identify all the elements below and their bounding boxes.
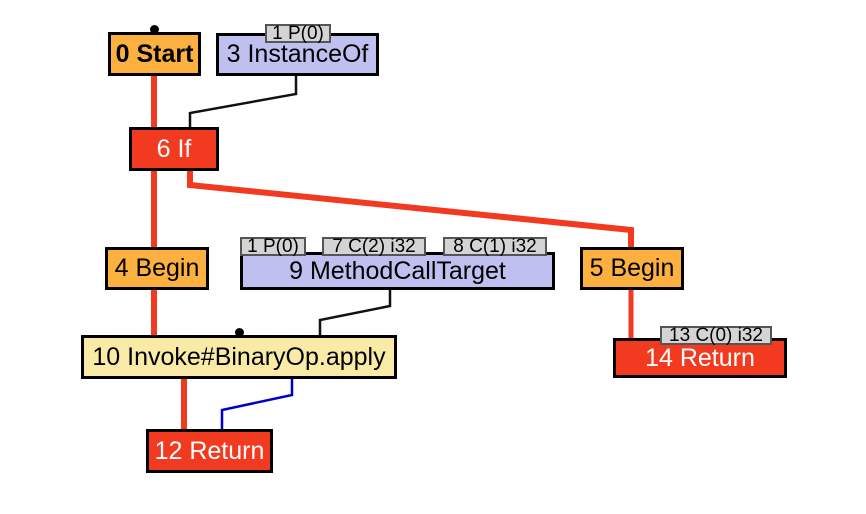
node-begin-5-label: 5 Begin — [590, 256, 675, 281]
node-instanceof-label: 3 InstanceOf — [227, 42, 369, 67]
node-invoke[interactable]: 10 Invoke#BinaryOp.apply — [81, 335, 397, 379]
port-label-mct-8-text: 8 C(1) i32 — [453, 237, 536, 256]
node-start[interactable]: 0 Start — [108, 32, 201, 76]
edge-invoke-value-return12 — [222, 378, 292, 432]
port-label-mct-7-text: 7 C(2) i32 — [332, 237, 415, 256]
node-method-call-target-label: 9 MethodCallTarget — [289, 259, 506, 284]
edge-instanceof-to-if — [190, 76, 296, 129]
port-label-mct-7[interactable]: 7 C(2) i32 — [322, 237, 426, 256]
graph-canvas[interactable]: 0 Start 3 InstanceOf 6 If 4 Begin 9 Meth… — [0, 0, 866, 514]
node-if[interactable]: 6 If — [129, 127, 219, 171]
node-invoke-label: 10 Invoke#BinaryOp.apply — [92, 345, 385, 370]
port-label-mct-8[interactable]: 8 C(1) i32 — [443, 237, 547, 256]
edge-mct-to-invoke — [320, 289, 390, 337]
node-return-14-label: 14 Return — [645, 346, 755, 371]
node-return-12[interactable]: 12 Return — [146, 429, 273, 473]
node-begin-4-label: 4 Begin — [115, 256, 200, 281]
node-begin-4[interactable]: 4 Begin — [105, 247, 209, 290]
port-label-mct-1-text: 1 P(0) — [247, 237, 299, 256]
port-label-instanceof-1[interactable]: 1 P(0) — [265, 24, 331, 43]
port-label-instanceof-1-text: 1 P(0) — [272, 24, 324, 43]
node-method-call-target[interactable]: 9 MethodCallTarget — [240, 252, 555, 290]
node-return-12-label: 12 Return — [155, 439, 265, 464]
node-if-label: 6 If — [157, 137, 192, 162]
anchor-dot-invoke — [235, 328, 244, 337]
port-label-return14-13[interactable]: 13 C(0) i32 — [660, 326, 772, 345]
node-begin-5[interactable]: 5 Begin — [580, 247, 684, 290]
node-start-label: 0 Start — [116, 42, 194, 67]
port-label-mct-1[interactable]: 1 P(0) — [240, 237, 306, 256]
anchor-dot-start — [150, 25, 159, 34]
port-label-return14-13-text: 13 C(0) i32 — [669, 326, 763, 345]
